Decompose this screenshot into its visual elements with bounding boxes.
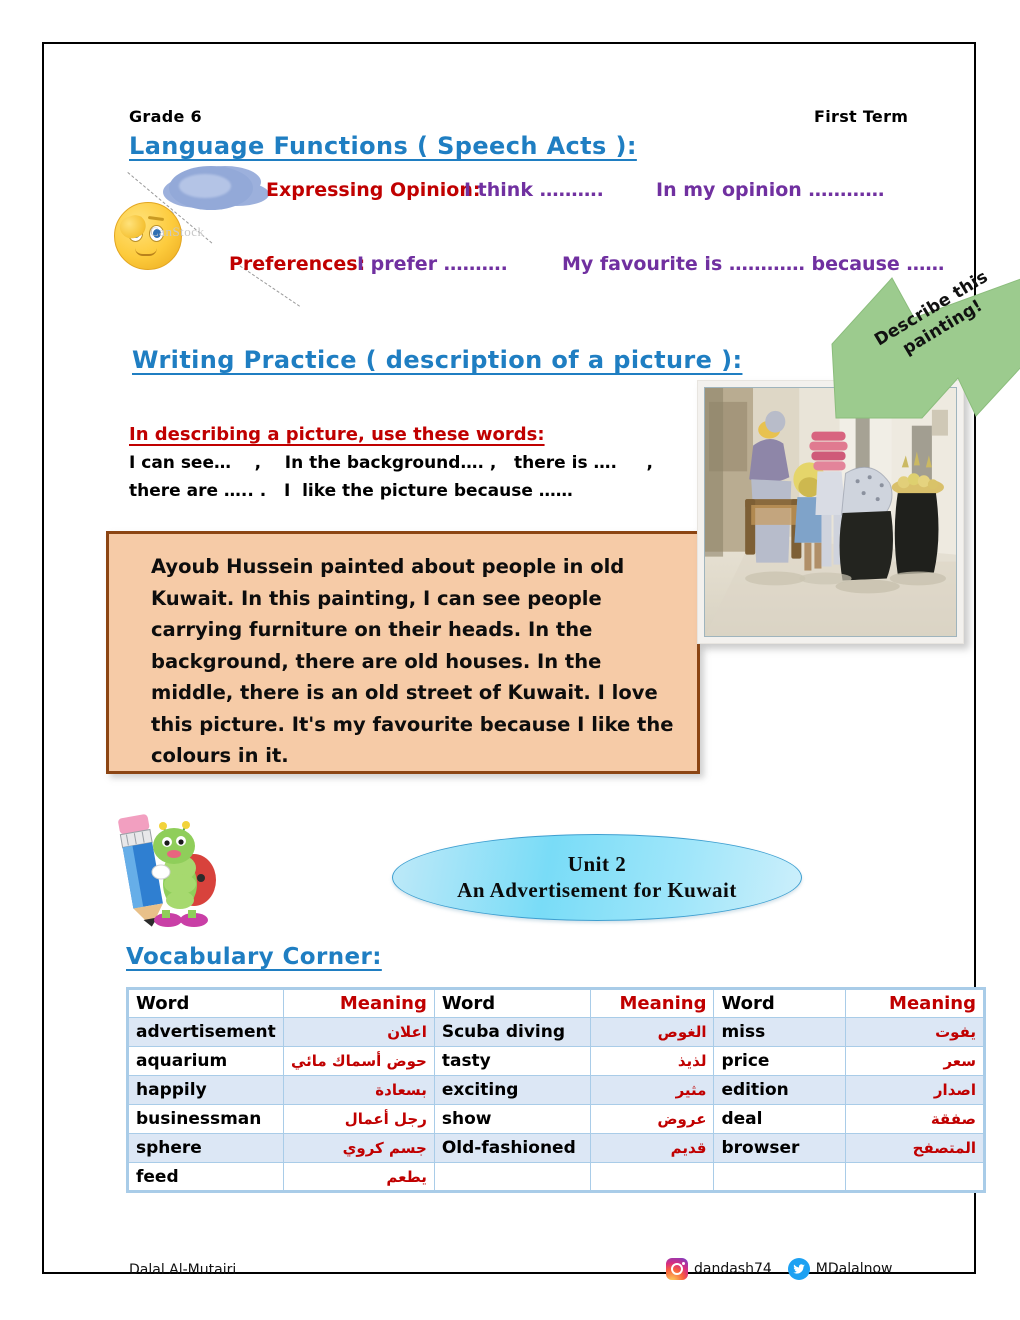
vocabulary-table: Word Meaning Word Meaning Word Meaning a… (126, 987, 986, 1193)
header-meaning-2: Meaning (591, 989, 714, 1018)
mouth-icon (135, 248, 157, 256)
vocab-meaning: اصدار (845, 1076, 984, 1105)
useful-phrases-line-1: I can see… , In the background…. , there… (129, 453, 653, 473)
twitter-icon[interactable] (788, 1258, 810, 1280)
thought-cloud-icon (169, 166, 253, 210)
footer-social-links: dandash74 MDalalnow (666, 1256, 902, 1282)
vocab-meaning: اعلان (283, 1018, 434, 1047)
vocab-meaning: يفوت (845, 1018, 984, 1047)
vocabulary-corner-heading: Vocabulary Corner: (126, 944, 382, 970)
vocab-word: miss (714, 1018, 845, 1047)
expressing-opinion-example-2: In my opinion ………… (656, 179, 884, 201)
vocab-word: Old-fashioned (434, 1134, 590, 1163)
describing-words-instruction: In describing a picture, use these words… (129, 424, 545, 445)
header-word-1: Word (128, 989, 284, 1018)
unit-title-oval: Unit 2 An Advertisement for Kuwait (392, 834, 802, 921)
model-paragraph-box: Ayoub Hussein painted about people in ol… (106, 531, 700, 774)
old-kuwait-street-painting-svg (705, 388, 956, 636)
language-functions-heading: Language Functions ( Speech Acts ): (129, 132, 637, 160)
vocab-word: advertisement (128, 1018, 284, 1047)
vocab-word: price (714, 1047, 845, 1076)
vocab-meaning: صفقة (845, 1105, 984, 1134)
vocab-meaning: بسعادة (283, 1076, 434, 1105)
table-row: sphere جسم كروي Old-fashioned قديم brows… (128, 1134, 985, 1163)
vocab-word: deal (714, 1105, 845, 1134)
vocab-word (714, 1163, 845, 1192)
instagram-handle[interactable]: dandash74 (694, 1261, 772, 1277)
vocab-meaning (845, 1163, 984, 1192)
table-row: advertisement اعلان Scuba diving الغوص m… (128, 1018, 985, 1047)
eyebrow-icon (148, 216, 164, 221)
vocab-word: happily (128, 1076, 284, 1105)
vocab-meaning: قديم (591, 1134, 714, 1163)
vocab-meaning: سعر (845, 1047, 984, 1076)
table-header-row: Word Meaning Word Meaning Word Meaning (128, 989, 985, 1018)
preferences-label: Preferences: (229, 253, 365, 275)
vocab-word: aquarium (128, 1047, 284, 1076)
vocab-meaning: جسم كروي (283, 1134, 434, 1163)
painting-image (704, 387, 957, 637)
twitter-handle[interactable]: MDalalnow (816, 1261, 893, 1277)
model-paragraph-text: Ayoub Hussein painted about people in ol… (151, 551, 681, 772)
vocab-word: browser (714, 1134, 845, 1163)
describe-painting-callout: Describe this painting! (830, 266, 1020, 421)
vocab-word: exciting (434, 1076, 590, 1105)
vocab-meaning: عروض (591, 1105, 714, 1134)
table-row: businessman رجل أعمال show عروض deal صفق… (128, 1105, 985, 1134)
unit-title: An Advertisement for Kuwait (457, 877, 737, 903)
term-label: First Term (814, 107, 908, 126)
stock-watermark: CanStock (150, 224, 205, 240)
vocab-word: sphere (128, 1134, 284, 1163)
table-row: happily بسعادة exciting مثير edition اصد… (128, 1076, 985, 1105)
worksheet-page: Grade 6 First Term Language Functions ( … (42, 42, 976, 1274)
vocab-meaning: يطعم (283, 1163, 434, 1192)
expressing-opinion-example-1: I think ………. (464, 179, 604, 201)
vocab-word (434, 1163, 590, 1192)
vocab-word: edition (714, 1076, 845, 1105)
vocab-meaning: مثير (591, 1076, 714, 1105)
vocab-word: tasty (434, 1047, 590, 1076)
vocab-word: show (434, 1105, 590, 1134)
header-meaning-1: Meaning (283, 989, 434, 1018)
table-row: feed يطعم (128, 1163, 985, 1192)
vocab-meaning: لذيذ (591, 1047, 714, 1076)
vocab-meaning (591, 1163, 714, 1192)
vocab-word: businessman (128, 1105, 284, 1134)
header-word-3: Word (714, 989, 845, 1018)
header-word-2: Word (434, 989, 590, 1018)
vocab-meaning: الغوص (591, 1018, 714, 1047)
header-meaning-3: Meaning (845, 989, 984, 1018)
expressing-opinion-label: Expressing Opinion: (266, 179, 480, 201)
preferences-example-1: I prefer ………. (357, 253, 508, 275)
footer-author-name: Dalal Al-Mutairi (129, 1262, 236, 1278)
caterpillar-pencil-mascot-icon (106, 806, 236, 941)
vocab-meaning: المتصفح (845, 1134, 984, 1163)
vocab-word: Scuba diving (434, 1018, 590, 1047)
table-row: aquarium حوض أسماك مائي tasty لذيذ price… (128, 1047, 985, 1076)
vocab-meaning: رجل أعمال (283, 1105, 434, 1134)
vocab-meaning: حوض أسماك مائي (283, 1047, 434, 1076)
writing-practice-heading: Writing Practice ( description of a pict… (132, 346, 742, 374)
vocab-word: feed (128, 1163, 284, 1192)
grade-label: Grade 6 (129, 107, 202, 126)
instagram-icon[interactable] (666, 1258, 688, 1280)
unit-number: Unit 2 (568, 852, 626, 877)
useful-phrases-line-2: there are ….. . I like the picture becau… (129, 481, 573, 501)
